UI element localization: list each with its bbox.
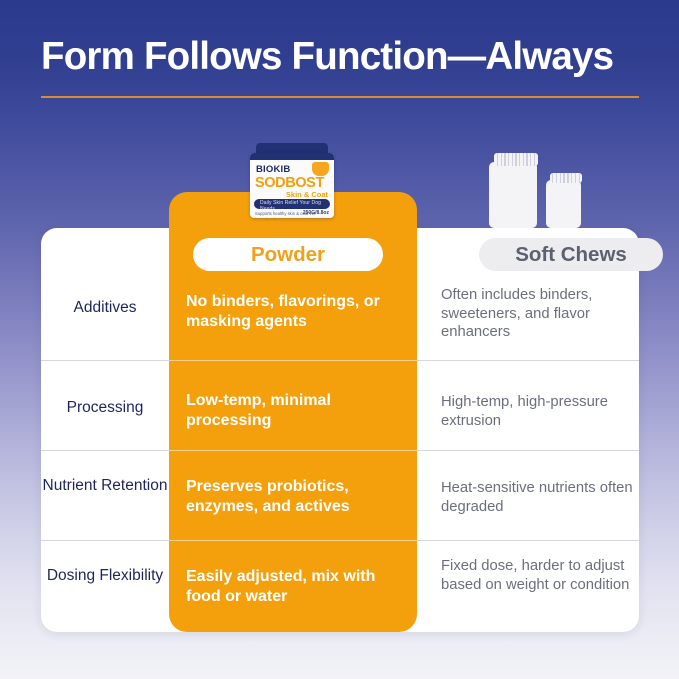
row-label-additives: Additives <box>41 298 169 318</box>
bottle-large-cap-icon <box>494 153 538 166</box>
row-chews-nutrient-retention: Heat-sensitive nutrients often degraded <box>441 479 637 516</box>
competitor-bottles-image <box>489 146 599 228</box>
column-header-soft-chews: Soft Chews <box>479 238 663 271</box>
row-label-processing: Processing <box>41 398 169 418</box>
page-title: Form Follows Function—Always <box>41 36 641 78</box>
infographic-poster: Form Follows Function—Always BIOKIB SODB… <box>0 0 679 679</box>
bottle-large-icon <box>489 162 537 228</box>
row-label-nutrient-retention: Nutrient Retention <box>41 476 169 496</box>
jar-weight-text: 250G/8.8oz <box>303 210 329 216</box>
jar-brand-text: BIOKIB <box>256 164 290 175</box>
row-divider <box>41 360 639 361</box>
row-powder-additives: No binders, flavorings, or masking agent… <box>186 292 404 331</box>
jar-body: BIOKIB SODBOST Skin & Coat Daily Skin Re… <box>250 153 334 218</box>
bottle-small-icon <box>546 180 581 228</box>
row-chews-processing: High-temp, high-pressure extrusion <box>441 393 637 430</box>
title-block: Form Follows Function—Always <box>41 36 641 78</box>
comparison-table: Powder Soft Chews Additives No binders, … <box>41 228 639 632</box>
row-chews-dosing-flexibility: Fixed dose, harder to adjust based on we… <box>441 557 637 594</box>
row-powder-dosing-flexibility: Easily adjusted, mix with food or water <box>186 567 404 606</box>
jar-product-name: SODBOST <box>255 176 324 191</box>
row-powder-nutrient-retention: Preserves probiotics, enzymes, and activ… <box>186 477 404 516</box>
product-jar-image: BIOKIB SODBOST Skin & Coat Daily Skin Re… <box>250 143 334 218</box>
row-divider <box>41 540 639 541</box>
row-label-dosing-flexibility: Dosing Flexibility <box>41 566 169 586</box>
jar-claim-strip: Daily Skin Relief Your Dog Needs <box>254 199 330 209</box>
row-chews-additives: Often includes binders, sweeteners, and … <box>441 286 637 342</box>
jar-top-band <box>250 153 334 160</box>
row-divider <box>41 450 639 451</box>
title-divider <box>41 96 639 98</box>
row-powder-processing: Low-temp, minimal processing <box>186 391 404 430</box>
column-header-powder: Powder <box>193 238 383 271</box>
bottle-small-cap-icon <box>550 173 582 183</box>
jar-subtitle: Skin & Coat <box>286 190 328 199</box>
table-header-row: Powder Soft Chews <box>41 228 639 280</box>
quality-seal-icon <box>312 162 329 176</box>
